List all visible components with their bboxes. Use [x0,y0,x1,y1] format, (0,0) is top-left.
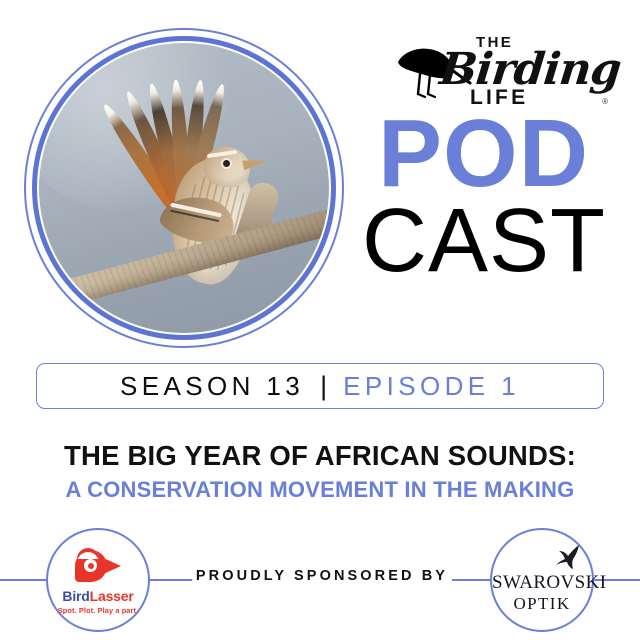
swarovski-wordmark: SWAROVSKI [492,572,592,594]
sponsored-by-label: PROUDLY SPONSORED BY [192,568,452,584]
podcast-word-pod: POD [378,108,589,200]
birdlasser-tagline: Spot. Plot. Play a part. [48,606,148,615]
episode-subtitle: A CONSERVATION MOVEMENT IN THE MAKING [20,477,620,503]
bird-photo [39,43,329,333]
podcast-cover-art: THE Birding LIFE ® POD CAST SEASON 13 | … [0,0,640,640]
birding-life-logo: THE Birding LIFE ® [360,30,616,110]
swarovski-optik-text: OPTIK [492,594,592,614]
masthead: THE Birding LIFE ® POD CAST [360,30,616,298]
episode-artwork-circle [24,28,344,348]
brand-script-text: Birding [437,44,623,95]
season-label: SEASON 13 [120,371,304,402]
season-separator: | [320,371,327,402]
birdlasser-word-bird: Bird [62,588,89,604]
birdlasser-eye-dot [88,563,94,569]
episode-title: THE BIG YEAR OF AFRICAN SOUNDS: [20,440,620,472]
episode-label: EPISODE 1 [343,371,520,402]
birdlasser-notch [77,548,99,559]
podcast-word-cast: CAST [362,198,606,284]
registered-mark: ® [602,97,608,106]
birdlasser-beak-shape [99,556,121,576]
birdlasser-wordmark: BirdLasser [48,588,148,604]
sponsor-strip: PROUDLY SPONSORED BY BirdLasser Spot. Pl… [0,528,640,632]
sponsor-rule-left-inner [148,579,192,581]
flying-hawk-icon [552,544,582,570]
season-episode-bar: SEASON 13 | EPISODE 1 [36,363,604,409]
birdlasser-word-lasser: Lasser [90,588,134,604]
birding-life-wordmark: THE Birding LIFE ® [440,32,610,108]
sponsor-logo-swarovski[interactable]: SWAROVSKI OPTIK [490,528,594,632]
sponsor-logo-birdlasser[interactable]: BirdLasser Spot. Plot. Play a part. [46,528,150,632]
episode-title-block: THE BIG YEAR OF AFRICAN SOUNDS: A CONSER… [20,440,620,503]
birdlasser-bird-pin-icon [75,548,121,582]
